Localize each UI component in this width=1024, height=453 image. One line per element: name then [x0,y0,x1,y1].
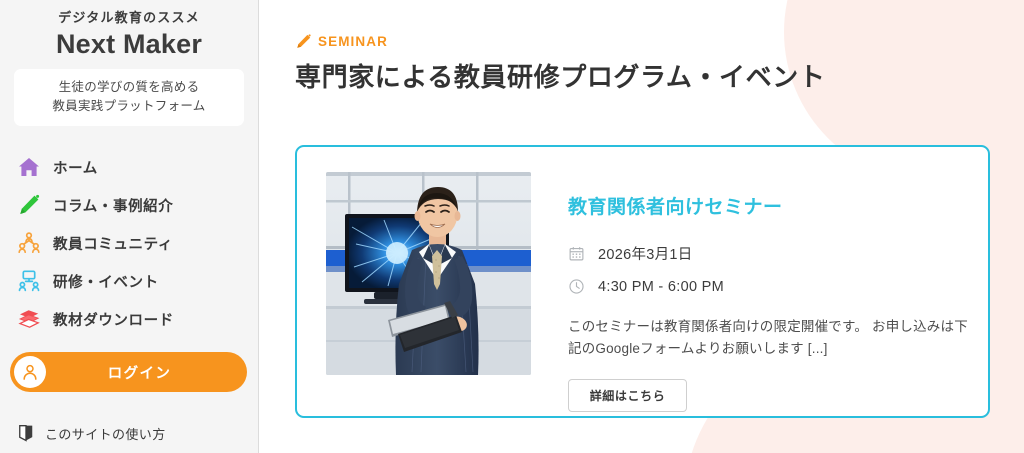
event-description: このセミナーは教育関係者向けの限定開催です。 お申し込みは下記のGoogleフォ… [568,316,968,360]
event-time: 4:30 PM - 6:00 PM [598,279,724,295]
tagline-box: 生徒の学びの質を高める 教員実践プラットフォーム [14,69,244,126]
sidebar-item-training-label: 研修・イベント [53,271,159,292]
main-content: SEMINAR 専門家による教員研修プログラム・イベント [259,0,1024,453]
training-icon [16,268,42,294]
detail-button[interactable]: 詳細はこちら [568,379,687,412]
event-title[interactable]: 教育関係者向けセミナー [568,192,968,219]
page-header: SEMINAR 専門家による教員研修プログラム・イベント [295,33,825,94]
pencil-icon [295,33,312,50]
event-card[interactable]: 教育関係者向けセミナー [295,145,990,418]
pencil-icon [16,192,42,218]
login-button-label: ログイン [46,362,233,383]
sidebar-item-community-label: 教員コミュニティ [53,233,173,254]
home-icon [16,154,42,180]
brand-kicker: デジタル教育のススメ [0,9,258,27]
sidebar: デジタル教育のススメ Next Maker 生徒の学びの質を高める 教員実践プラ… [0,0,259,453]
sidebar-item-training[interactable]: 研修・イベント [0,262,258,300]
sidebar-nav: ホーム コラム・事例紹介 [0,148,258,338]
page-kicker-label: SEMINAR [318,34,388,49]
sidebar-item-home-label: ホーム [53,157,98,178]
event-card-body: 教育関係者向けセミナー [568,172,968,412]
sidebar-item-column-label: コラム・事例紹介 [53,195,173,216]
sidebar-item-community[interactable]: 教員コミュニティ [0,224,258,262]
community-icon [16,230,42,256]
event-thumbnail [326,172,531,375]
event-date: 2026年3月1日 [598,243,693,264]
guidebook-icon [16,423,36,443]
sidebar-item-materials-label: 教材ダウンロード [53,309,174,330]
clock-icon [568,278,585,295]
tagline-line-1: 生徒の学びの質を高める [20,78,238,97]
sidebar-item-materials[interactable]: 教材ダウンロード [0,300,258,338]
help-link[interactable]: このサイトの使い方 [16,423,166,443]
event-time-row: 4:30 PM - 6:00 PM [568,278,968,295]
event-date-row: 2026年3月1日 [568,243,968,264]
login-button[interactable]: ログイン [10,352,247,392]
user-avatar-icon [14,356,46,388]
help-link-label: このサイトの使い方 [45,424,166,443]
sidebar-item-home[interactable]: ホーム [0,148,258,186]
sidebar-item-column[interactable]: コラム・事例紹介 [0,186,258,224]
brand-logo[interactable]: デジタル教育のススメ Next Maker [0,0,258,60]
books-icon [16,306,42,332]
page-root: デジタル教育のススメ Next Maker 生徒の学びの質を高める 教員実践プラ… [0,0,1024,453]
tagline-line-2: 教員実践プラットフォーム [20,97,238,116]
calendar-icon [568,245,585,262]
page-kicker: SEMINAR [295,33,825,50]
page-title: 専門家による教員研修プログラム・イベント [295,57,825,94]
brand-name: Next Maker [0,28,258,60]
